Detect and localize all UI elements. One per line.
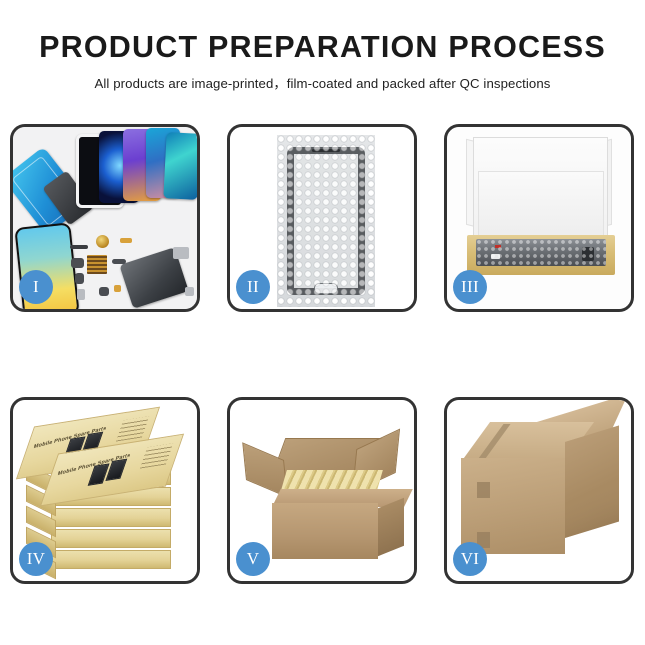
- screen-marker-red: [495, 245, 501, 248]
- stacked-box-4: [51, 529, 171, 548]
- process-step-grid: I II III: [10, 124, 635, 584]
- part-connector-gold: [120, 238, 132, 243]
- process-step-panel-6: VI: [444, 397, 634, 584]
- bubble-wrap-sheet: [277, 135, 375, 307]
- screen-in-box: [476, 239, 606, 266]
- step-badge-2: II: [236, 270, 270, 304]
- step-badge-6: VI: [453, 542, 487, 576]
- process-step-panel-3: III: [444, 124, 634, 312]
- part-vibration-coil: [96, 235, 109, 248]
- carton-front-face: [272, 503, 378, 559]
- step-badge-4: IV: [19, 542, 53, 576]
- stacked-box-bottom: [51, 550, 171, 569]
- header: PRODUCT PREPARATION PROCESS All products…: [0, 0, 645, 92]
- wrapped-phone-screen: [287, 147, 365, 295]
- process-step-panel-4: Mobile Phone Spare Parts Mobile Phone Sp…: [10, 397, 200, 584]
- part-screw-gold: [114, 285, 121, 292]
- screen-label-white: [491, 254, 500, 259]
- step-badge-1: I: [19, 270, 53, 304]
- kraft-box-tray: [467, 235, 615, 275]
- part-misc-white: [173, 247, 189, 259]
- part-screw-set: [185, 287, 194, 296]
- part-bracket: [71, 258, 84, 268]
- sealed-carton-side: [565, 425, 619, 538]
- box-spec-text-lines: [116, 416, 149, 441]
- step-badge-3: III: [453, 270, 487, 304]
- process-step-panel-2: II: [227, 124, 417, 312]
- process-step-panel-1: I: [10, 124, 200, 312]
- process-step-panel-5: V: [227, 397, 417, 584]
- carton-tab-upper: [477, 482, 490, 498]
- part-flex-strip: [70, 245, 88, 249]
- stacked-box-3: [51, 508, 171, 527]
- screen-connector: [582, 247, 594, 261]
- box-spec-text-lines: [140, 443, 173, 468]
- part-shield-can: [75, 273, 84, 284]
- page-subtitle: All products are image-printed，film-coat…: [0, 64, 645, 92]
- step-badge-5: V: [236, 542, 270, 576]
- phone-screen-teal-wave: [163, 132, 197, 200]
- part-speaker: [99, 287, 109, 296]
- foam-padding: [478, 171, 604, 239]
- part-ribbon-cable: [112, 259, 126, 264]
- page-title: PRODUCT PREPARATION PROCESS: [0, 0, 645, 64]
- part-logic-ic: [87, 255, 107, 274]
- part-sim-tray: [77, 289, 85, 300]
